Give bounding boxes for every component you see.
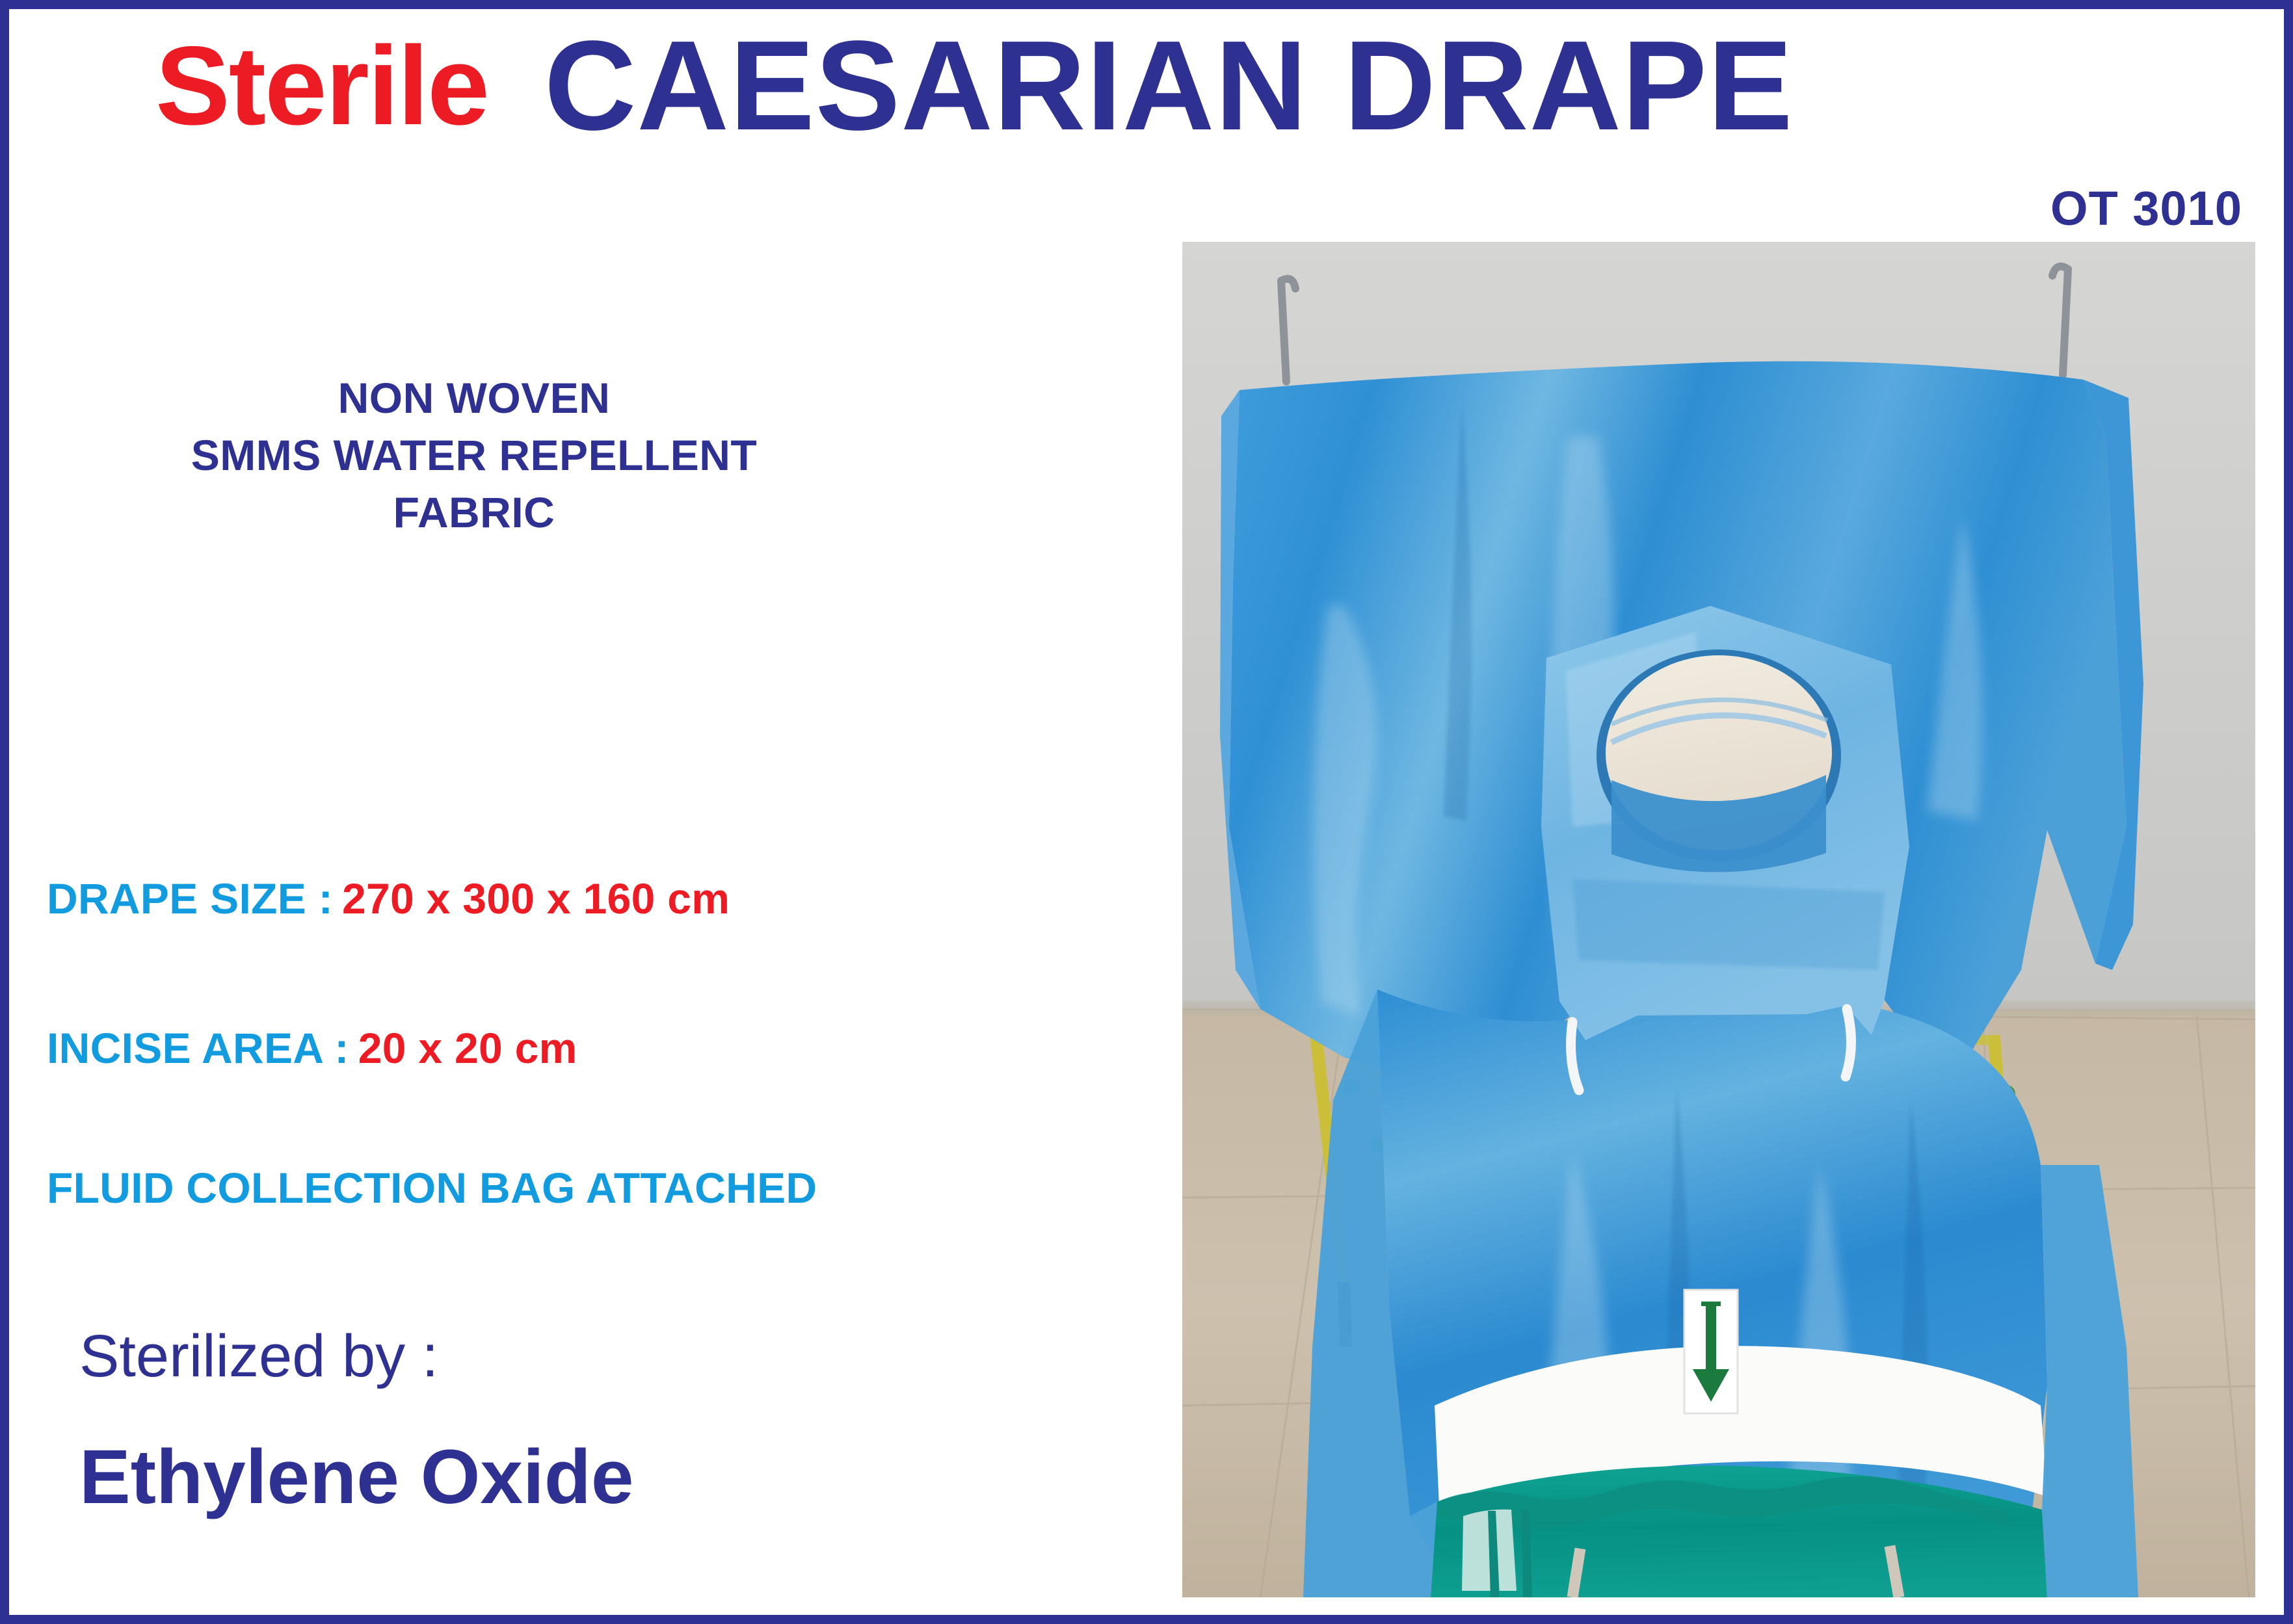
spec-incise-area: INCISE AREA :20 x 20 cm — [47, 1023, 577, 1073]
spec-drape-size-label: DRAPE SIZE : — [47, 874, 333, 923]
sterilized-by-label: Sterilized by : — [79, 1322, 438, 1391]
incise-window — [1597, 649, 1841, 872]
fabric-line-3: FABRIC — [9, 484, 939, 542]
fabric-line-2: SMMS WATER REPELLENT — [9, 427, 939, 484]
product-photo-illustration — [1182, 242, 2255, 1597]
sterilant-name: Ethylene Oxide — [79, 1433, 634, 1521]
spec-fluid-collection-bag-label: FLUID COLLECTION BAG ATTACHED — [47, 1164, 817, 1212]
product-code: OT 3010 — [2050, 181, 2242, 236]
spec-incise-area-value: 20 x 20 cm — [358, 1024, 577, 1072]
product-photograph — [1182, 242, 2255, 1597]
spec-drape-size-value: 270 x 300 x 160 cm — [342, 874, 730, 923]
left-info-column: NON WOVEN SMMS WATER REPELLENT FABRIC DR… — [9, 9, 1173, 1615]
spec-fluid-collection-bag: FLUID COLLECTION BAG ATTACHED — [47, 1163, 817, 1212]
fabric-line-1: NON WOVEN — [9, 370, 939, 427]
product-label-poster: Sterile CAESARIAN DRAPE OT 3010 NON WOVE… — [0, 0, 2293, 1624]
fabric-description: NON WOVEN SMMS WATER REPELLENT FABRIC — [9, 370, 939, 541]
direction-arrow-tab — [1684, 1290, 1738, 1413]
spec-incise-area-label: INCISE AREA : — [47, 1024, 349, 1072]
spec-drape-size: DRAPE SIZE :270 x 300 x 160 cm — [47, 874, 730, 923]
